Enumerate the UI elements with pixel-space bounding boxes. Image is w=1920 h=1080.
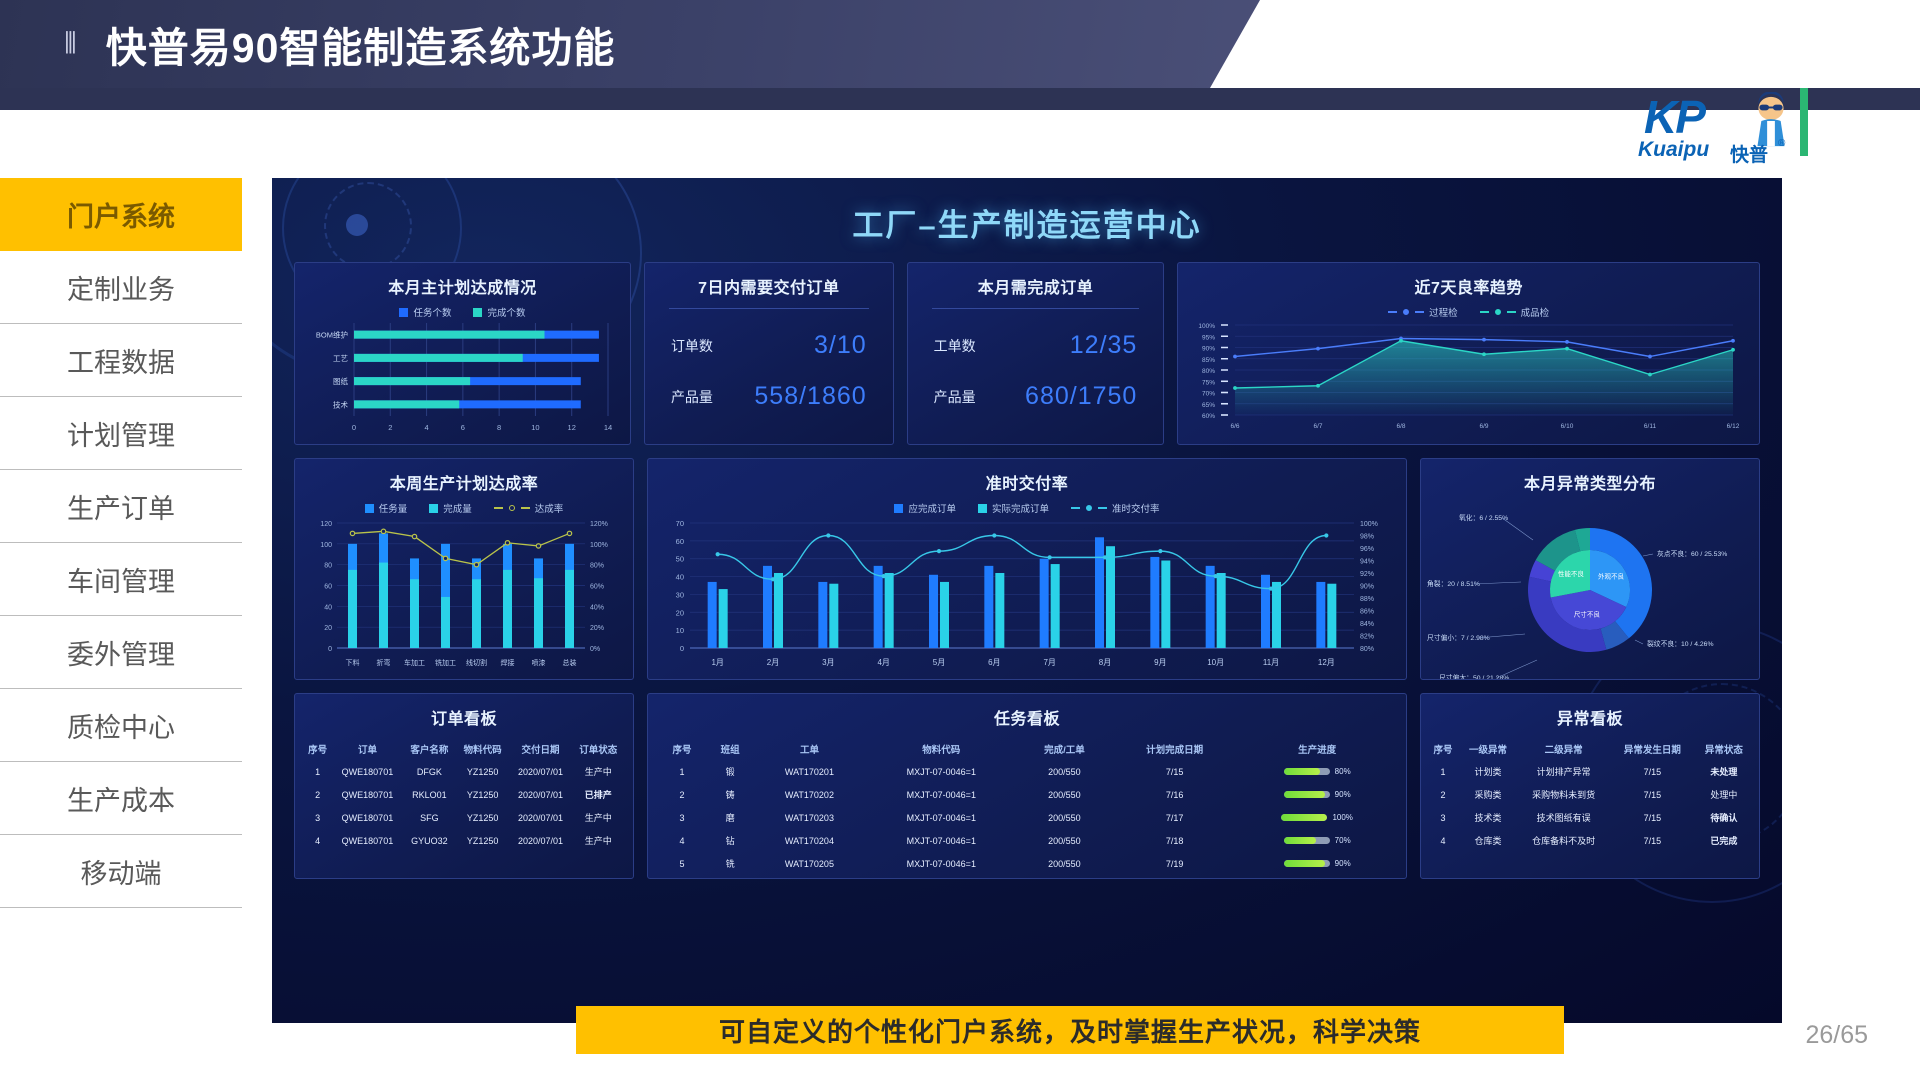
cell-material: MXJT-07-0046=1 bbox=[865, 783, 1018, 806]
svg-text:75%: 75% bbox=[1202, 379, 1215, 386]
svg-text:1月: 1月 bbox=[711, 658, 723, 667]
kpi-row: 产品量 680/1750 bbox=[908, 382, 1164, 411]
svg-text:90%: 90% bbox=[1360, 584, 1374, 591]
card-deliver-7days: 7日内需要交付订单 订单数 3/10 产品量 558/1860 bbox=[644, 262, 894, 445]
svg-text:5月: 5月 bbox=[933, 658, 945, 667]
horizontal-bar-chart: 02468101214BOM维护工艺图纸技术 bbox=[295, 319, 630, 434]
table-row[interactable]: 1计划类计划排产异常7/15未处理 bbox=[1427, 760, 1753, 783]
legend-label: 过程检 bbox=[1429, 305, 1458, 319]
divider bbox=[932, 308, 1140, 309]
legend-label: 应完成订单 bbox=[908, 501, 956, 515]
column-header: 客户名称 bbox=[403, 738, 456, 760]
cell-level1: 仓库类 bbox=[1459, 829, 1517, 852]
cell-work-order: WAT170205 bbox=[754, 852, 865, 875]
column-header: 物料代码 bbox=[865, 738, 1018, 760]
dashboard-title: 工厂–生产制造运营中心 bbox=[272, 200, 1782, 245]
card-title: 准时交付率 bbox=[648, 459, 1406, 494]
kpi-label: 工单数 bbox=[934, 336, 976, 356]
legend-item: 达成率 bbox=[494, 501, 564, 515]
column-header: 一级异常 bbox=[1459, 738, 1517, 760]
cell-date: 7/15 bbox=[1111, 760, 1238, 783]
status-badge: 生产中 bbox=[572, 829, 625, 852]
svg-text:92%: 92% bbox=[1360, 571, 1374, 578]
cell-index: 2 bbox=[658, 783, 706, 806]
svg-text:下料: 下料 bbox=[346, 658, 360, 667]
sidebar-item-label: 门户系统 bbox=[67, 195, 175, 234]
table-row[interactable]: 5铣WAT170205MXJT-07-0046=1200/5507/1990% bbox=[658, 852, 1396, 875]
svg-text:90%: 90% bbox=[1202, 346, 1215, 353]
legend-label: 实际完成订单 bbox=[992, 501, 1049, 515]
sidebar-item-label: 工程数据 bbox=[67, 341, 175, 380]
svg-text:车加工: 车加工 bbox=[404, 658, 425, 667]
cell-index: 3 bbox=[1427, 806, 1459, 829]
card-title: 订单看板 bbox=[295, 694, 633, 729]
cell-material: MXJT-07-0046=1 bbox=[865, 806, 1018, 829]
exception-pie-chart: 外观不良尺寸不良性能不良氧化：6 / 2.55%灰点不良：60 / 25.53%… bbox=[1421, 494, 1759, 680]
svg-text:20%: 20% bbox=[590, 625, 604, 632]
kpi-label: 产品量 bbox=[934, 387, 976, 407]
svg-text:30: 30 bbox=[676, 590, 684, 599]
header-strip bbox=[0, 88, 1920, 110]
status-badge: 已排产 bbox=[572, 783, 625, 806]
sidebar: 门户系统定制业务工程数据计划管理生产订单车间管理委外管理质检中心生产成本移动端 bbox=[0, 178, 242, 908]
cell-date: 7/16 bbox=[1111, 783, 1238, 806]
cell-material: MXJT-07-0046=1 bbox=[865, 852, 1018, 875]
cell-date: 2020/07/01 bbox=[509, 783, 571, 806]
svg-text:喷漆: 喷漆 bbox=[532, 658, 546, 667]
svg-text:60: 60 bbox=[676, 537, 684, 546]
legend-label: 完成量 bbox=[443, 501, 472, 515]
status-badge: 未处理 bbox=[1695, 760, 1753, 783]
slide-caption: 可自定义的个性化门户系统，及时掌握生产状况，科学决策 bbox=[576, 1006, 1564, 1054]
weekly-combo-chart: 00%2020%4040%6060%8080%100100%120120%下料折… bbox=[295, 515, 633, 670]
kpi-value: 3/10 bbox=[814, 331, 867, 360]
svg-text:裂纹不良：10 / 4.26%: 裂纹不良：10 / 4.26% bbox=[1647, 639, 1713, 648]
cell-order: QWE180701 bbox=[332, 783, 402, 806]
svg-text:12月: 12月 bbox=[1318, 658, 1335, 667]
table-row[interactable]: 4QWE180701GYUO32YZ12502020/07/01生产中 bbox=[303, 829, 625, 852]
legend-item: 准时交付率 bbox=[1071, 501, 1160, 515]
dashboard-row-3: 订单看板 序号订单客户名称物料代码交付日期订单状态1QWE180701DFGKY… bbox=[294, 693, 1760, 879]
cell-done: 200/550 bbox=[1018, 760, 1111, 783]
cell-index: 1 bbox=[1427, 760, 1459, 783]
svg-text:80%: 80% bbox=[1360, 646, 1374, 653]
kpi-value: 680/1750 bbox=[1025, 382, 1137, 411]
svg-text:60: 60 bbox=[324, 584, 332, 591]
svg-text:9月: 9月 bbox=[1154, 658, 1166, 667]
card-title: 近7天良率趋势 bbox=[1178, 263, 1759, 298]
sidebar-item-label: 计划管理 bbox=[67, 414, 175, 453]
card-master-plan: 本月主计划达成情况 任务个数 完成个数 02468101214BOM维护工艺图纸… bbox=[294, 262, 631, 445]
sidebar-item-9[interactable]: 移动端 bbox=[0, 835, 242, 908]
table-row[interactable]: 3磨WAT170203MXJT-07-0046=1200/5507/17100% bbox=[658, 806, 1396, 829]
sidebar-item-label: 生产订单 bbox=[67, 487, 175, 526]
cell-index: 2 bbox=[1427, 783, 1459, 806]
cell-order: QWE180701 bbox=[332, 829, 402, 852]
column-header: 订单状态 bbox=[572, 738, 625, 760]
cell-work-order: WAT170204 bbox=[754, 829, 865, 852]
cell-date: 7/15 bbox=[1610, 783, 1695, 806]
kpi-row: 产品量 558/1860 bbox=[645, 382, 893, 411]
svg-text:60%: 60% bbox=[1202, 413, 1215, 420]
svg-text:3月: 3月 bbox=[822, 658, 834, 667]
svg-text:线切割: 线切割 bbox=[466, 658, 487, 667]
svg-text:灰点不良：60 / 25.53%: 灰点不良：60 / 25.53% bbox=[1657, 549, 1727, 558]
cell-work-order: WAT170201 bbox=[754, 760, 865, 783]
cell-index: 4 bbox=[1427, 829, 1459, 852]
card-yield-trend: 近7天良率趋势 过程检 成品检 100%95%90%85%80%75%70%65… bbox=[1177, 262, 1760, 445]
cell-level2: 技术图纸有误 bbox=[1517, 806, 1610, 829]
order-table: 序号订单客户名称物料代码交付日期订单状态1QWE180701DFGKYZ1250… bbox=[303, 738, 625, 852]
svg-text:4月: 4月 bbox=[877, 658, 889, 667]
task-table: 序号班组工单物料代码完成/工单计划完成日期生产进度1锻WAT170201MXJT… bbox=[658, 738, 1396, 875]
progress-bar: 90% bbox=[1238, 783, 1396, 806]
svg-text:70%: 70% bbox=[1202, 391, 1215, 398]
svg-text:100%: 100% bbox=[590, 542, 608, 549]
svg-text:14: 14 bbox=[604, 423, 612, 432]
table-row[interactable]: 2采购类采购物料未到货7/15处理中 bbox=[1427, 783, 1753, 806]
svg-text:82%: 82% bbox=[1360, 634, 1374, 641]
cell-index: 4 bbox=[658, 829, 706, 852]
cell-date: 2020/07/01 bbox=[509, 760, 571, 783]
dashboard-row-1: 本月主计划达成情况 任务个数 完成个数 02468101214BOM维护工艺图纸… bbox=[294, 262, 1760, 445]
sidebar-item-4[interactable]: 生产订单 bbox=[0, 470, 242, 543]
table-row[interactable]: 2QWE180701RKLO01YZ12502020/07/01已排产 bbox=[303, 783, 625, 806]
yield-line-chart: 100%95%90%85%80%75%70%65%60%6/66/76/86/9… bbox=[1178, 319, 1759, 431]
cell-team: 铣 bbox=[706, 852, 754, 875]
cell-date: 2020/07/01 bbox=[509, 829, 571, 852]
cell-index: 1 bbox=[658, 760, 706, 783]
legend-item: 过程检 bbox=[1388, 305, 1458, 319]
svg-text:12: 12 bbox=[568, 423, 576, 432]
cell-order: QWE180701 bbox=[332, 806, 402, 829]
kpi-value: 558/1860 bbox=[754, 382, 866, 411]
sidebar-item-2[interactable]: 工程数据 bbox=[0, 324, 242, 397]
sidebar-item-0[interactable]: 门户系统 bbox=[0, 178, 242, 251]
svg-text:6月: 6月 bbox=[988, 658, 1000, 667]
cell-level1: 采购类 bbox=[1459, 783, 1517, 806]
legend-label: 完成个数 bbox=[487, 305, 525, 319]
card-title: 本周生产计划达成率 bbox=[295, 459, 633, 494]
cell-customer: RKLO01 bbox=[403, 783, 456, 806]
legend-label: 准时交付率 bbox=[1112, 501, 1160, 515]
card-month-orders: 本月需完成订单 工单数 12/35 产品量 680/1750 bbox=[907, 262, 1165, 445]
cell-level1: 计划类 bbox=[1459, 760, 1517, 783]
svg-text:6/8: 6/8 bbox=[1396, 423, 1405, 430]
cell-done: 200/550 bbox=[1018, 783, 1111, 806]
page-number: 26/65 bbox=[1805, 1021, 1868, 1050]
kpi-value: 12/35 bbox=[1070, 331, 1138, 360]
card-title: 异常看板 bbox=[1421, 694, 1759, 729]
status-badge: 生产中 bbox=[572, 806, 625, 829]
ontime-combo-chart: 01020304050607080%82%84%86%88%90%92%94%9… bbox=[648, 515, 1406, 670]
sidebar-item-7[interactable]: 质检中心 bbox=[0, 689, 242, 762]
cell-date: 7/15 bbox=[1610, 760, 1695, 783]
sidebar-item-label: 质检中心 bbox=[67, 706, 175, 745]
svg-text:7月: 7月 bbox=[1043, 658, 1055, 667]
logo-kp-mark: KP bbox=[1644, 90, 1704, 144]
card-exception-board: 异常看板 序号一级异常二级异常异常发生日期异常状态1计划类计划排产异常7/15未… bbox=[1420, 693, 1760, 879]
svg-text:85%: 85% bbox=[1202, 357, 1215, 364]
column-header: 工单 bbox=[754, 738, 865, 760]
cell-index: 4 bbox=[303, 829, 332, 852]
logo-brand-cn: 快普 bbox=[1730, 140, 1768, 167]
svg-text:0: 0 bbox=[352, 423, 356, 432]
svg-text:尺寸偏大：50 / 21.28%: 尺寸偏大：50 / 21.28% bbox=[1439, 673, 1509, 680]
card-weekly-plan: 本周生产计划达成率 任务量 完成量 达成率 00%2020%4040%6060%… bbox=[294, 458, 634, 680]
dashboard-panel: 工厂–生产制造运营中心 本月主计划达成情况 任务个数 完成个数 bbox=[272, 178, 1782, 1023]
cell-work-order: WAT170202 bbox=[754, 783, 865, 806]
cell-level2: 采购物料未到货 bbox=[1517, 783, 1610, 806]
cell-team: 钻 bbox=[706, 829, 754, 852]
cell-date: 7/15 bbox=[1610, 829, 1695, 852]
svg-text:8月: 8月 bbox=[1099, 658, 1111, 667]
svg-text:50: 50 bbox=[676, 555, 684, 564]
table-row[interactable]: 1锻WAT170201MXJT-07-0046=1200/5507/1580% bbox=[658, 760, 1396, 783]
cell-index: 3 bbox=[303, 806, 332, 829]
card-title: 7日内需要交付订单 bbox=[645, 263, 893, 298]
header-bar: ⦀ 快普易90智能制造系统功能 bbox=[0, 0, 1260, 88]
svg-text:6/10: 6/10 bbox=[1560, 423, 1573, 430]
svg-text:外观不良: 外观不良 bbox=[1598, 572, 1625, 581]
svg-text:100: 100 bbox=[320, 542, 332, 549]
card-ontime-delivery: 准时交付率 应完成订单 实际完成订单 准时交付率 010203040506070… bbox=[647, 458, 1407, 680]
svg-text:6/9: 6/9 bbox=[1479, 423, 1488, 430]
svg-text:氧化：6 / 2.55%: 氧化：6 / 2.55% bbox=[1459, 513, 1508, 522]
dashboard-grid: 本月主计划达成情况 任务个数 完成个数 02468101214BOM维护工艺图纸… bbox=[294, 262, 1760, 892]
cell-date: 7/15 bbox=[1610, 806, 1695, 829]
svg-text:80%: 80% bbox=[590, 563, 604, 570]
sidebar-item-label: 生产成本 bbox=[67, 779, 175, 818]
legend-item: 实际完成订单 bbox=[978, 501, 1049, 515]
sidebar-item-1[interactable]: 定制业务 bbox=[0, 251, 242, 324]
svg-text:84%: 84% bbox=[1360, 621, 1374, 628]
svg-text:6/7: 6/7 bbox=[1313, 423, 1322, 430]
status-badge: 生产中 bbox=[572, 760, 625, 783]
svg-text:总装: 总装 bbox=[563, 658, 577, 667]
card-order-board: 订单看板 序号订单客户名称物料代码交付日期订单状态1QWE180701DFGKY… bbox=[294, 693, 634, 879]
kpi-label: 产品量 bbox=[671, 387, 713, 407]
status-badge: 处理中 bbox=[1695, 783, 1753, 806]
svg-text:10: 10 bbox=[676, 626, 684, 635]
column-header: 班组 bbox=[706, 738, 754, 760]
kpi-row: 工单数 12/35 bbox=[908, 331, 1164, 360]
cell-team: 磨 bbox=[706, 806, 754, 829]
column-header: 交付日期 bbox=[509, 738, 571, 760]
legend-item: 完成个数 bbox=[473, 305, 525, 319]
cell-index: 5 bbox=[658, 852, 706, 875]
svg-text:40: 40 bbox=[676, 573, 684, 582]
svg-text:性能不良: 性能不良 bbox=[1558, 569, 1585, 578]
svg-text:0: 0 bbox=[680, 644, 684, 653]
card-title: 任务看板 bbox=[648, 694, 1406, 729]
svg-text:96%: 96% bbox=[1360, 546, 1374, 553]
column-header: 物料代码 bbox=[456, 738, 509, 760]
progress-bar: 70% bbox=[1238, 829, 1396, 852]
svg-text:98%: 98% bbox=[1360, 534, 1374, 541]
legend-item: 任务量 bbox=[365, 501, 408, 515]
sidebar-item-6[interactable]: 委外管理 bbox=[0, 616, 242, 689]
hamburger-icon: ⦀ bbox=[64, 28, 80, 61]
table-row[interactable]: 2铸WAT170202MXJT-07-0046=1200/5507/1690% bbox=[658, 783, 1396, 806]
svg-text:0: 0 bbox=[328, 646, 332, 653]
cell-material: MXJT-07-0046=1 bbox=[865, 829, 1018, 852]
cell-material: YZ1250 bbox=[456, 783, 509, 806]
cell-date: 7/19 bbox=[1111, 852, 1238, 875]
cell-material: YZ1250 bbox=[456, 806, 509, 829]
chart-legend: 任务个数 完成个数 bbox=[295, 305, 630, 319]
table-row[interactable]: 4仓库类仓库备料不及时7/15已完成 bbox=[1427, 829, 1753, 852]
card-title: 本月需完成订单 bbox=[908, 263, 1164, 298]
svg-text:10: 10 bbox=[532, 423, 540, 432]
column-header: 序号 bbox=[1427, 738, 1459, 760]
cell-material: YZ1250 bbox=[456, 760, 509, 783]
cell-date: 7/17 bbox=[1111, 806, 1238, 829]
sidebar-item-8[interactable]: 生产成本 bbox=[0, 762, 242, 835]
svg-text:95%: 95% bbox=[1202, 334, 1215, 341]
svg-text:8: 8 bbox=[498, 423, 502, 432]
svg-text:2月: 2月 bbox=[767, 658, 779, 667]
cell-index: 2 bbox=[303, 783, 332, 806]
sidebar-item-5[interactable]: 车间管理 bbox=[0, 543, 242, 616]
cell-customer: GYUO32 bbox=[403, 829, 456, 852]
svg-text:70: 70 bbox=[676, 519, 684, 528]
legend-label: 成品检 bbox=[1521, 305, 1550, 319]
cell-work-order: WAT170203 bbox=[754, 806, 865, 829]
column-header: 序号 bbox=[303, 738, 332, 760]
svg-text:40: 40 bbox=[324, 604, 332, 611]
svg-text:焊接: 焊接 bbox=[501, 658, 515, 667]
brand-logo: KP Kuaipu 快普 ® bbox=[1638, 98, 1868, 168]
svg-text:工艺: 工艺 bbox=[333, 354, 348, 363]
svg-text:10月: 10月 bbox=[1207, 658, 1224, 667]
cell-material: YZ1250 bbox=[456, 829, 509, 852]
sidebar-item-label: 车间管理 bbox=[67, 560, 175, 599]
table-row[interactable]: 1QWE180701DFGKYZ12502020/07/01生产中 bbox=[303, 760, 625, 783]
progress-bar: 80% bbox=[1238, 760, 1396, 783]
legend-item: 任务个数 bbox=[399, 305, 451, 319]
svg-text:94%: 94% bbox=[1360, 559, 1374, 566]
dashboard-row-2: 本周生产计划达成率 任务量 完成量 达成率 00%2020%4040%6060%… bbox=[294, 458, 1760, 680]
column-header: 异常发生日期 bbox=[1610, 738, 1695, 760]
svg-text:2: 2 bbox=[389, 423, 393, 432]
svg-text:120%: 120% bbox=[590, 521, 608, 528]
cell-done: 200/550 bbox=[1018, 806, 1111, 829]
progress-bar: 100% bbox=[1238, 806, 1396, 829]
svg-text:铣加工: 铣加工 bbox=[435, 658, 456, 667]
cell-team: 铸 bbox=[706, 783, 754, 806]
cell-date: 7/18 bbox=[1111, 829, 1238, 852]
sidebar-item-3[interactable]: 计划管理 bbox=[0, 397, 242, 470]
svg-text:技术: 技术 bbox=[333, 399, 348, 409]
cell-customer: DFGK bbox=[403, 760, 456, 783]
cell-index: 1 bbox=[303, 760, 332, 783]
column-header: 生产进度 bbox=[1238, 738, 1396, 760]
slide-root: ⦀ 快普易90智能制造系统功能 KP Kuaipu 快普 ® 门户系统定制业务工… bbox=[0, 0, 1920, 1080]
chart-legend: 应完成订单 实际完成订单 准时交付率 bbox=[648, 501, 1406, 515]
cell-level2: 计划排产异常 bbox=[1517, 760, 1610, 783]
cell-team: 锻 bbox=[706, 760, 754, 783]
column-header: 订单 bbox=[332, 738, 402, 760]
svg-text:6/11: 6/11 bbox=[1644, 423, 1657, 430]
svg-text:尺寸不良: 尺寸不良 bbox=[1574, 610, 1601, 619]
svg-text:86%: 86% bbox=[1360, 609, 1374, 616]
svg-text:60%: 60% bbox=[590, 584, 604, 591]
divider bbox=[669, 308, 869, 309]
table-row[interactable]: 3技术类技术图纸有误7/15待确认 bbox=[1427, 806, 1753, 829]
sidebar-item-label: 定制业务 bbox=[67, 268, 175, 307]
svg-text:80: 80 bbox=[324, 563, 332, 570]
logo-brand-text: Kuaipu bbox=[1638, 138, 1709, 162]
cell-customer: SFG bbox=[403, 806, 456, 829]
card-exception-distribution: 本月异常类型分布 外观不良尺寸不良性能不良氧化：6 / 2.55%灰点不良：60… bbox=[1420, 458, 1760, 680]
svg-text:6: 6 bbox=[461, 423, 465, 432]
table-row[interactable]: 3QWE180701SFGYZ12502020/07/01生产中 bbox=[303, 806, 625, 829]
cell-date: 2020/07/01 bbox=[509, 806, 571, 829]
legend-label: 任务量 bbox=[379, 501, 408, 515]
chart-legend: 过程检 成品检 bbox=[1178, 305, 1759, 319]
legend-item: 完成量 bbox=[429, 501, 472, 515]
card-title: 本月异常类型分布 bbox=[1421, 459, 1759, 494]
cell-material: MXJT-07-0046=1 bbox=[865, 760, 1018, 783]
cell-done: 200/550 bbox=[1018, 852, 1111, 875]
svg-text:20: 20 bbox=[324, 625, 332, 632]
svg-text:BOM维护: BOM维护 bbox=[316, 330, 348, 340]
table-row[interactable]: 4钻WAT170204MXJT-07-0046=1200/5507/1870% bbox=[658, 829, 1396, 852]
legend-item: 成品检 bbox=[1480, 305, 1550, 319]
legend-label: 达成率 bbox=[535, 501, 564, 515]
svg-text:100%: 100% bbox=[1360, 521, 1378, 528]
svg-text:88%: 88% bbox=[1360, 596, 1374, 603]
column-header: 计划完成日期 bbox=[1111, 738, 1238, 760]
svg-text:角裂：20 / 8.51%: 角裂：20 / 8.51% bbox=[1427, 579, 1480, 588]
legend-label: 任务个数 bbox=[413, 305, 451, 319]
svg-text:80%: 80% bbox=[1202, 368, 1215, 375]
svg-text:65%: 65% bbox=[1202, 402, 1215, 409]
cell-index: 3 bbox=[658, 806, 706, 829]
card-task-board: 任务看板 序号班组工单物料代码完成/工单计划完成日期生产进度1锻WAT17020… bbox=[647, 693, 1407, 879]
sidebar-item-label: 移动端 bbox=[81, 852, 162, 891]
cell-level1: 技术类 bbox=[1459, 806, 1517, 829]
kpi-row: 订单数 3/10 bbox=[645, 331, 893, 360]
svg-text:0%: 0% bbox=[590, 646, 600, 653]
column-header: 二级异常 bbox=[1517, 738, 1610, 760]
kpi-label: 订单数 bbox=[671, 336, 713, 356]
logo-flag bbox=[1800, 88, 1808, 156]
svg-text:6/12: 6/12 bbox=[1726, 423, 1739, 430]
column-header: 序号 bbox=[658, 738, 706, 760]
status-badge: 已完成 bbox=[1695, 829, 1753, 852]
svg-text:4: 4 bbox=[425, 423, 429, 432]
cell-level2: 仓库备料不及时 bbox=[1517, 829, 1610, 852]
svg-text:折弯: 折弯 bbox=[377, 658, 391, 667]
svg-text:40%: 40% bbox=[590, 604, 604, 611]
chart-legend: 任务量 完成量 达成率 bbox=[295, 501, 633, 515]
svg-text:120: 120 bbox=[320, 521, 332, 528]
exception-table: 序号一级异常二级异常异常发生日期异常状态1计划类计划排产异常7/15未处理2采购… bbox=[1427, 738, 1753, 852]
svg-text:6/6: 6/6 bbox=[1230, 423, 1239, 430]
svg-text:20: 20 bbox=[676, 608, 684, 617]
sidebar-item-label: 委外管理 bbox=[67, 633, 175, 672]
logo-trademark: ® bbox=[1778, 138, 1785, 149]
page-title: 快普易90智能制造系统功能 bbox=[106, 14, 616, 74]
column-header: 完成/工单 bbox=[1018, 738, 1111, 760]
status-badge: 待确认 bbox=[1695, 806, 1753, 829]
progress-bar: 90% bbox=[1238, 852, 1396, 875]
card-title: 本月主计划达成情况 bbox=[295, 263, 630, 298]
legend-item: 应完成订单 bbox=[894, 501, 956, 515]
svg-text:图纸: 图纸 bbox=[333, 376, 348, 386]
